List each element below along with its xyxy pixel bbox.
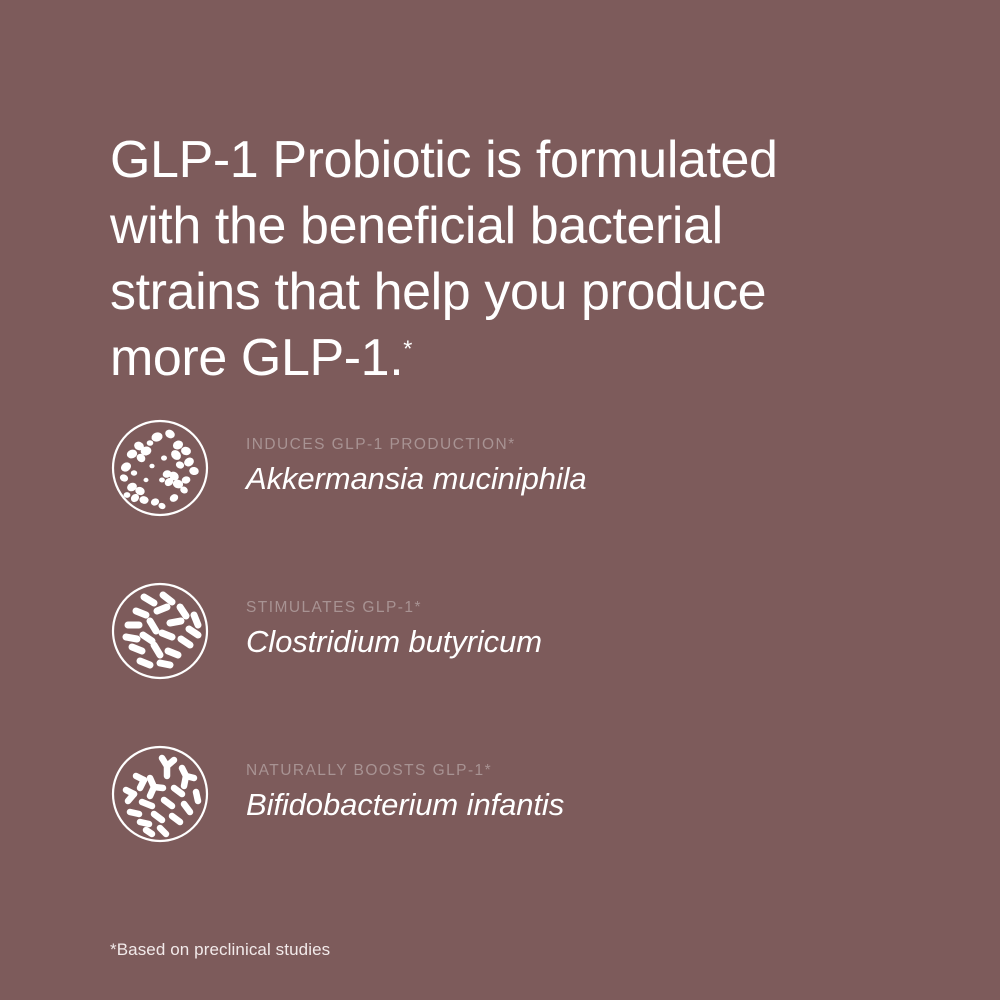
petri-dish-branched-rods-icon xyxy=(110,744,210,844)
strain-text-block: NATURALLY BOOSTS GLP-1* Bifidobacterium … xyxy=(246,761,564,827)
strain-eyebrow: STIMULATES GLP-1* xyxy=(246,598,542,618)
page-title: GLP-1 Probiotic is formulated with the b… xyxy=(110,127,920,391)
probiotic-strains-poster: GLP-1 Probiotic is formulated with the b… xyxy=(0,0,1000,1000)
strain-eyebrow: NATURALLY BOOSTS GLP-1* xyxy=(246,761,564,781)
strain-text-block: INDUCES GLP-1 PRODUCTION* Akkermansia mu… xyxy=(246,435,587,501)
strain-name: Akkermansia muciniphila xyxy=(246,459,587,499)
strain-list: INDUCES GLP-1 PRODUCTION* Akkermansia mu… xyxy=(110,418,930,844)
strain-name: Bifidobacterium infantis xyxy=(246,785,564,825)
strain-eyebrow: INDUCES GLP-1 PRODUCTION* xyxy=(246,435,587,455)
strain-text-block: STIMULATES GLP-1* Clostridium butyricum xyxy=(246,598,542,664)
list-item: INDUCES GLP-1 PRODUCTION* Akkermansia mu… xyxy=(110,418,930,518)
headline-asterisk: * xyxy=(403,336,412,362)
headline-text: GLP-1 Probiotic is formulated with the b… xyxy=(110,131,778,387)
strain-name: Clostridium butyricum xyxy=(246,622,542,662)
list-item: NATURALLY BOOSTS GLP-1* Bifidobacterium … xyxy=(110,744,930,844)
petri-dish-cocci-icon xyxy=(110,418,210,518)
footnote: *Based on preclinical studies xyxy=(110,938,330,962)
list-item: STIMULATES GLP-1* Clostridium butyricum xyxy=(110,581,930,681)
petri-dish-rods-icon xyxy=(110,581,210,681)
